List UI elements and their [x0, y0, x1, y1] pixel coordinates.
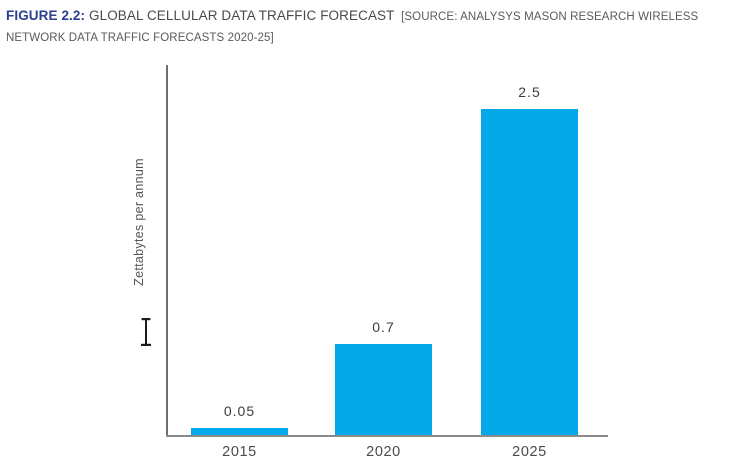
x-tick-label-2025: 2025 — [476, 444, 583, 460]
x-tick-label-2020: 2020 — [330, 444, 437, 460]
bar-2020 — [335, 344, 432, 435]
bar-2025 — [481, 109, 578, 435]
bar-2015 — [191, 428, 288, 435]
bar-value-label-2015: 0.05 — [191, 403, 288, 419]
x-tick-label-2015: 2015 — [186, 444, 293, 460]
bar-value-label-2020: 0.7 — [335, 319, 432, 335]
x-axis-line — [166, 435, 608, 437]
bar-value-label-2025: 2.5 — [481, 84, 578, 100]
bar-chart: Zettabytes per annum 0.05 0.7 2.5 2015 2… — [0, 0, 739, 470]
y-axis-line — [166, 65, 168, 437]
text-cursor-icon — [140, 318, 152, 346]
